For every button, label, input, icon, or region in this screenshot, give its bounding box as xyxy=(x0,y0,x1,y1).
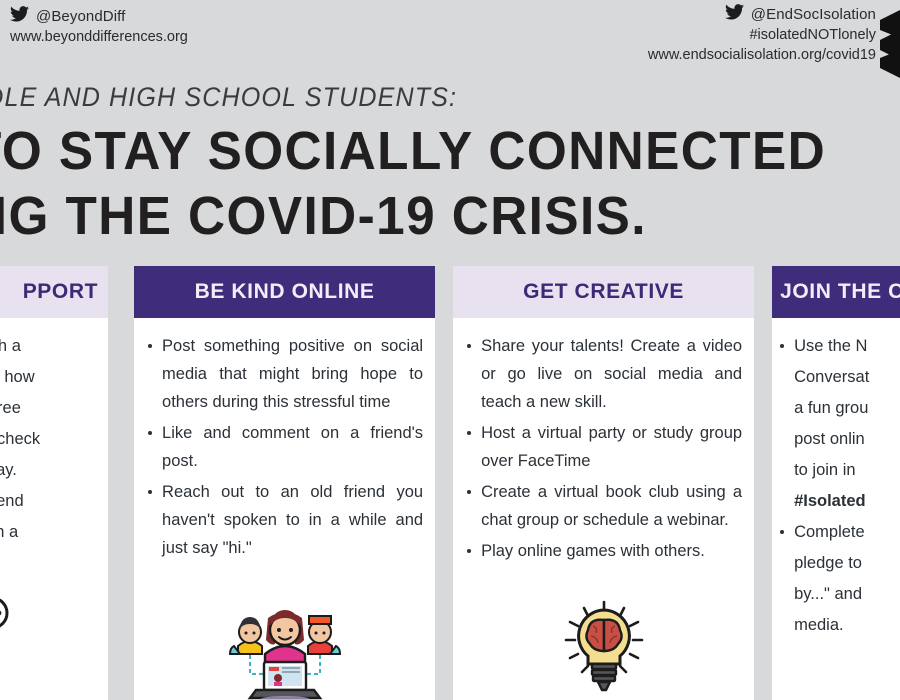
infographic-page: @BeyondDiff www.beyonddifferences.org @E… xyxy=(0,0,900,700)
twitter-icon xyxy=(10,6,29,27)
hashtag-right: #isolatedNOTlonely xyxy=(648,25,876,45)
lightbulb-brain-illustration xyxy=(453,598,754,698)
column-get-creative-body: Share your talents! Create a video or go… xyxy=(453,318,754,700)
list-line: by..." and xyxy=(778,580,900,608)
list-line: Conversat xyxy=(778,363,900,391)
column-be-kind-online-body: Post something positive on social media … xyxy=(134,318,435,700)
list-line: a fun grou xyxy=(778,394,900,422)
video-chat-illustration xyxy=(134,602,435,700)
cropped-logo-mark xyxy=(874,8,900,86)
column-join-the-conversation-body: Use the N Conversat a fun grou post onli… xyxy=(772,318,900,700)
website-left: www.beyonddifferences.org xyxy=(10,27,188,47)
tips-list: Use the N Conversat a fun grou post onli… xyxy=(778,332,900,639)
list-line: post onlin xyxy=(778,425,900,453)
tips-list: chat with a and ask how or text tree per… xyxy=(0,332,108,577)
list-item: person check xyxy=(0,425,108,453)
column-get-creative-header: GET CREATIVE xyxy=(453,266,754,318)
headline-line-2: NG THE COVID-19 CRISIS. xyxy=(0,189,647,243)
column-support-body: chat with a and ask how or text tree per… xyxy=(0,318,108,700)
list-item: ken to in a xyxy=(0,518,108,546)
tips-columns: PPORT chat with a and ask how or text tr… xyxy=(0,266,900,700)
social-header-bar: @BeyondDiff www.beyonddifferences.org @E… xyxy=(0,0,900,78)
list-item: y "hi." xyxy=(0,549,108,577)
list-line: media. xyxy=(778,611,900,639)
twitter-icon xyxy=(725,4,744,25)
tips-list: Post something positive on social media … xyxy=(146,332,423,562)
headline-block: DDLE AND HIGH SCHOOL STUDENTS: TO STAY S… xyxy=(0,82,900,264)
list-item: Complete xyxy=(778,518,900,546)
list-item: Create a virtual book club using a chat … xyxy=(465,478,742,534)
list-item: Reach out to an old friend you haven't s… xyxy=(146,478,423,562)
list-item: n old friend xyxy=(0,487,108,515)
social-handle-right: @EndSocIsolation #isolatedNOTlonely www.… xyxy=(648,4,876,65)
website-right: www.endsocialisolation.org/covid19 xyxy=(648,45,876,65)
column-get-creative: GET CREATIVE Share your talents! Create … xyxy=(453,266,754,700)
column-join-the-conversation: JOIN THE C Use the N Conversat a fun gro… xyxy=(772,266,900,700)
list-item: Play online games with others. xyxy=(465,537,742,565)
list-line: to join in xyxy=(778,456,900,484)
list-item: Like and comment on a friend's post. xyxy=(146,419,423,475)
column-support-header: PPORT xyxy=(0,266,108,318)
list-item: or text tree xyxy=(0,394,108,422)
twitter-handle-left: @BeyondDiff xyxy=(36,7,125,27)
headline-eyebrow: DDLE AND HIGH SCHOOL STUDENTS: xyxy=(0,82,457,113)
column-support: PPORT chat with a and ask how or text tr… xyxy=(0,266,108,700)
column-be-kind-online-header: BE KIND ONLINE xyxy=(134,266,435,318)
list-item: Share your talents! Create a video or go… xyxy=(465,332,742,416)
tips-list: Share your talents! Create a video or go… xyxy=(465,332,742,565)
chat-bubble-icon xyxy=(0,591,18,640)
twitter-handle-right: @EndSocIsolation xyxy=(751,5,876,25)
list-item: Post something positive on social media … xyxy=(146,332,423,416)
social-handle-left: @BeyondDiff www.beyonddifferences.org xyxy=(10,6,188,47)
column-join-the-conversation-header: JOIN THE C xyxy=(772,266,900,318)
hashtag-line: #Isolated xyxy=(778,487,900,515)
list-line: pledge to xyxy=(778,549,900,577)
list-item: Use the N xyxy=(778,332,900,360)
headline-line-1: TO STAY SOCIALLY CONNECTED xyxy=(0,124,826,178)
list-item: every day. xyxy=(0,456,108,484)
list-item: and ask how xyxy=(0,363,108,391)
column-be-kind-online: BE KIND ONLINE Post something positive o… xyxy=(134,266,435,700)
list-item: Host a virtual party or study group over… xyxy=(465,419,742,475)
list-item: chat with a xyxy=(0,332,108,360)
